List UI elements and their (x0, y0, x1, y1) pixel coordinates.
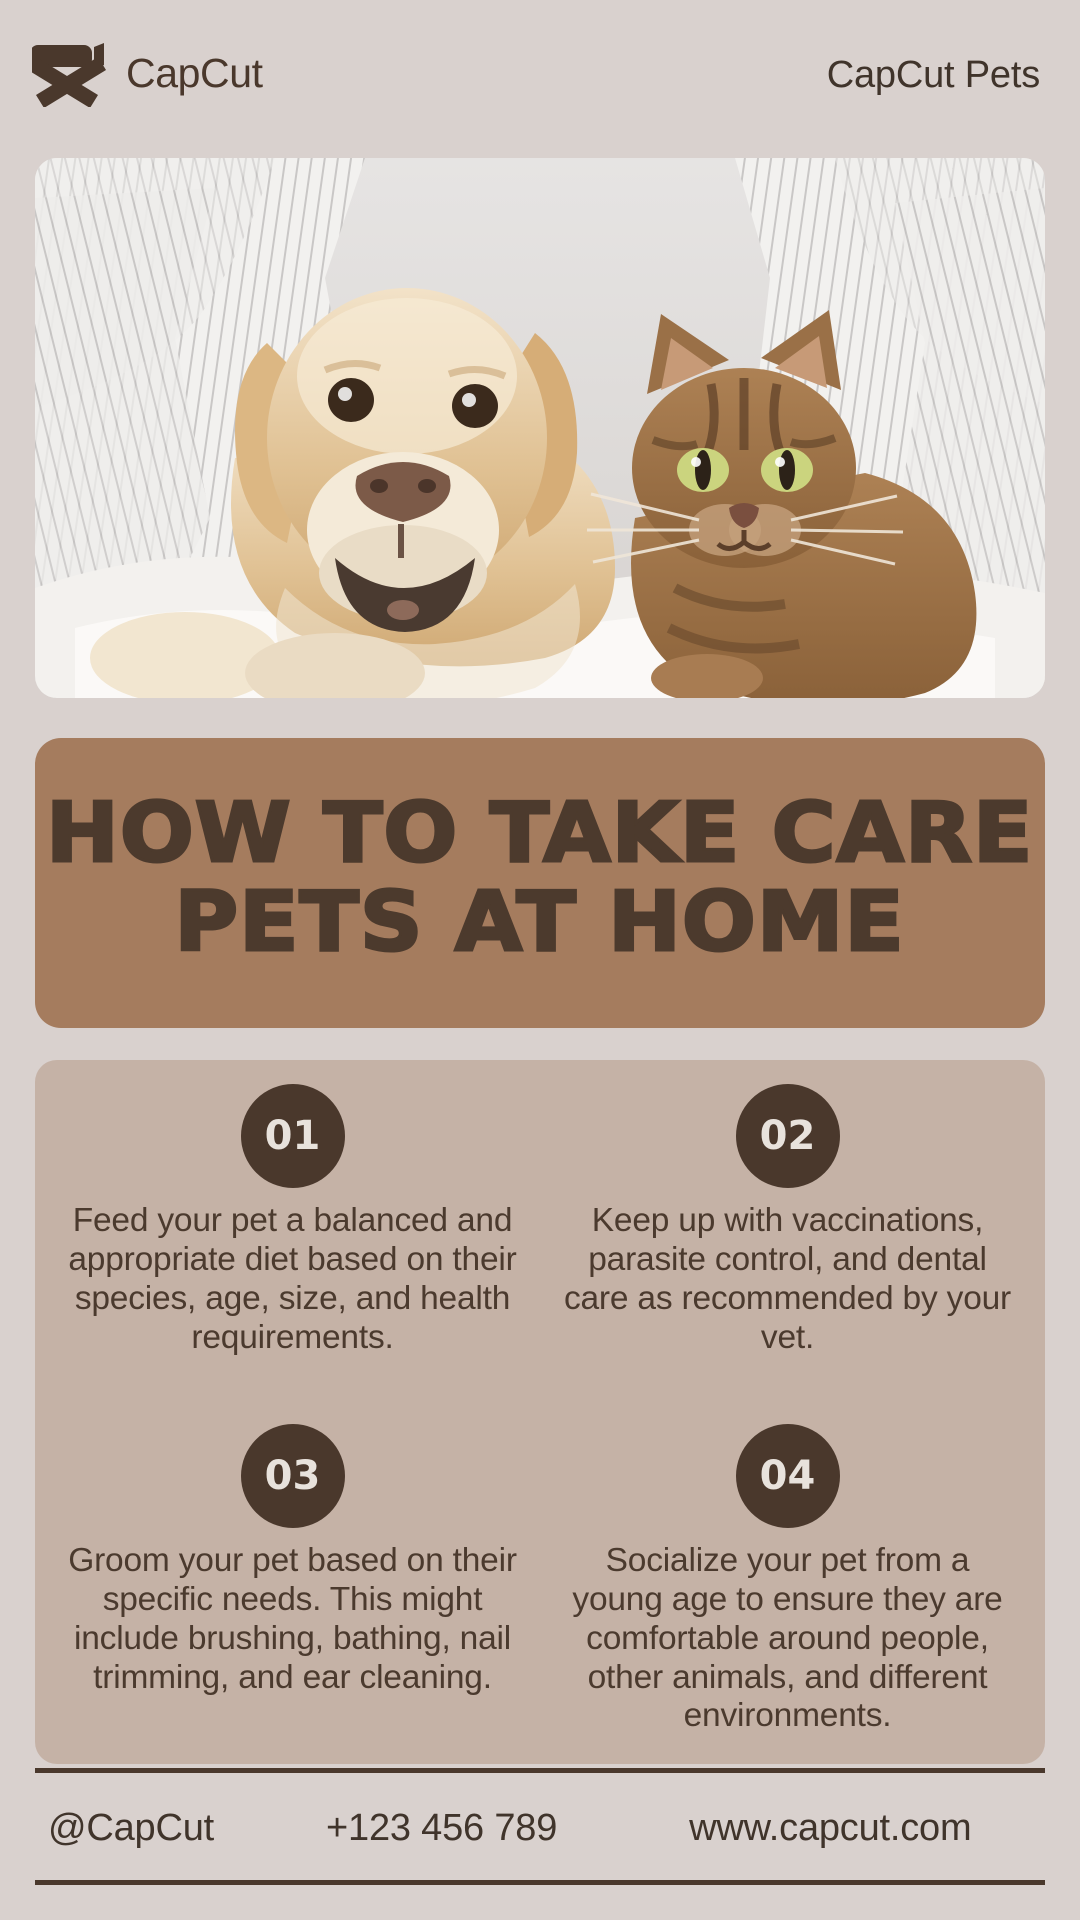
hero-photo (35, 158, 1045, 698)
tip-number-04: 04 (760, 1456, 816, 1496)
tip-number-badge-03: 03 (241, 1424, 345, 1528)
title-banner: HOW TO TAKE CARE PETS AT HOME (35, 738, 1045, 1028)
footer: @CapCut +123 456 789 www.capcut.com (35, 1780, 1045, 1876)
tip-item-01: 01 Feed your pet a balanced and appropri… (45, 1084, 540, 1424)
brand-name: CapCut (126, 53, 263, 98)
header: CapCut CapCut Pets (0, 0, 1080, 150)
footer-social-handle[interactable]: @CapCut (48, 1807, 214, 1850)
tip-text-03: Groom your pet based on their specific n… (67, 1542, 518, 1697)
tips-card: 01 Feed your pet a balanced and appropri… (35, 1060, 1045, 1764)
tip-text-04: Socialize your pet from a young age to e… (562, 1542, 1013, 1736)
tip-item-03: 03 Groom your pet based on their specifi… (45, 1424, 540, 1764)
capcut-logo-icon (32, 43, 106, 107)
tip-number-02: 02 (760, 1116, 816, 1156)
footer-divider-bottom (35, 1880, 1045, 1885)
tip-number-badge-01: 01 (241, 1084, 345, 1188)
tip-number-badge-04: 04 (736, 1424, 840, 1528)
tips-grid: 01 Feed your pet a balanced and appropri… (45, 1084, 1035, 1764)
tip-number-01: 01 (265, 1116, 321, 1156)
footer-divider-top (35, 1768, 1045, 1773)
tip-number-03: 03 (265, 1456, 321, 1496)
tip-text-02: Keep up with vaccinations, parasite cont… (562, 1202, 1013, 1357)
footer-phone[interactable]: +123 456 789 (326, 1807, 557, 1850)
footer-website[interactable]: www.capcut.com (689, 1807, 971, 1850)
hero-photo-illustration (35, 158, 1045, 698)
title-line-1: HOW TO TAKE CARE (46, 790, 1033, 879)
tip-text-01: Feed your pet a balanced and appropriate… (67, 1202, 518, 1357)
header-right-label: CapCut Pets (827, 54, 1040, 97)
infographic-poster: CapCut CapCut Pets (0, 0, 1080, 1920)
brand[interactable]: CapCut (32, 43, 263, 107)
tip-item-02: 02 Keep up with vaccinations, parasite c… (540, 1084, 1035, 1424)
tip-item-04: 04 Socialize your pet from a young age t… (540, 1424, 1035, 1764)
tip-number-badge-02: 02 (736, 1084, 840, 1188)
title-line-2: PETS AT HOME (175, 879, 906, 968)
